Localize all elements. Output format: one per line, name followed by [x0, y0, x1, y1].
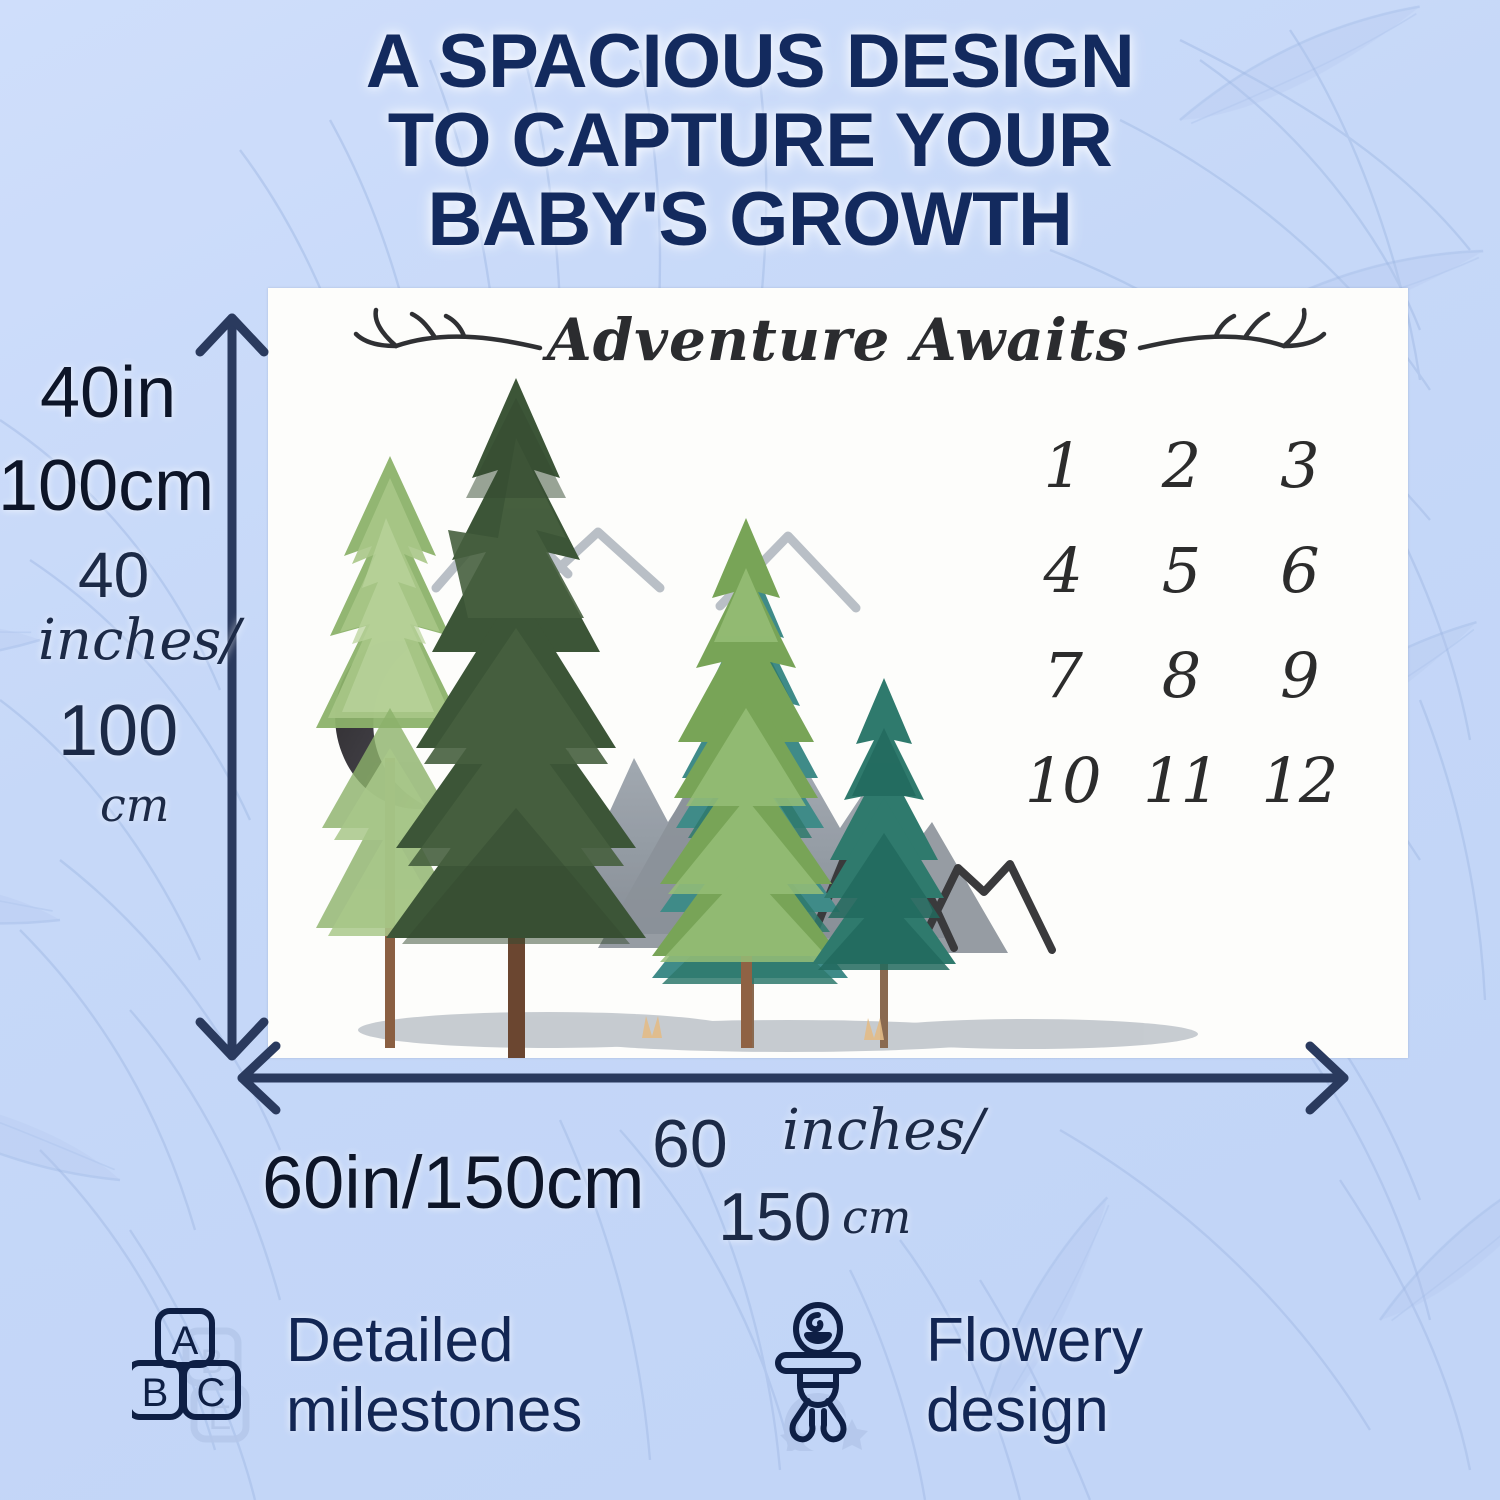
headline-line-2: TO CAPTURE YOUR	[0, 101, 1500, 180]
feature-label-milestones: Detailed milestones	[286, 1306, 582, 1445]
baby-smile	[807, 1335, 829, 1341]
height-label-inches: 40in	[40, 352, 176, 434]
feature-label-line-1: Flowery	[926, 1306, 1143, 1375]
feature-detailed-milestones: B E A B C Detailed milestones	[0, 1268, 750, 1483]
baby-icon	[772, 1301, 900, 1451]
feature-label-line-2: design	[926, 1376, 1143, 1445]
feature-label-design: Flowery design	[926, 1306, 1143, 1445]
width-script-number-1: 60	[652, 1105, 728, 1183]
feature-flowery-design: Flowery design	[750, 1268, 1500, 1483]
height-script-unit-1: inches/	[38, 608, 240, 673]
headline-line-3: BABY'S GROWTH	[0, 180, 1500, 259]
width-script-unit-2: cm	[842, 1190, 911, 1244]
block-letter-a: A	[172, 1319, 199, 1363]
block-letter-c: C	[197, 1371, 226, 1415]
width-script-number-2: 150	[718, 1178, 831, 1256]
headline-line-1: A SPACIOUS DESIGN	[0, 22, 1500, 101]
width-label-main: 60in/150cm	[262, 1140, 645, 1225]
abc-blocks-icon: B E A B C	[132, 1301, 260, 1451]
height-script-unit-2: cm	[100, 778, 169, 832]
feature-label-line-1: Detailed	[286, 1306, 582, 1375]
height-label-cm: 100cm	[0, 445, 214, 527]
baby-arms	[778, 1355, 858, 1371]
block-letter-b: B	[142, 1371, 169, 1415]
width-script-unit-1: inches/	[782, 1098, 984, 1163]
height-script-number-2: 100	[58, 690, 178, 772]
height-script-number-1: 40	[78, 538, 149, 612]
feature-row: B E A B C Detailed milestones	[0, 1268, 1500, 1483]
feature-label-line-2: milestones	[286, 1376, 582, 1445]
page-title: A SPACIOUS DESIGN TO CAPTURE YOUR BABY'S…	[0, 22, 1500, 259]
baby-hair-curl	[809, 1315, 820, 1329]
